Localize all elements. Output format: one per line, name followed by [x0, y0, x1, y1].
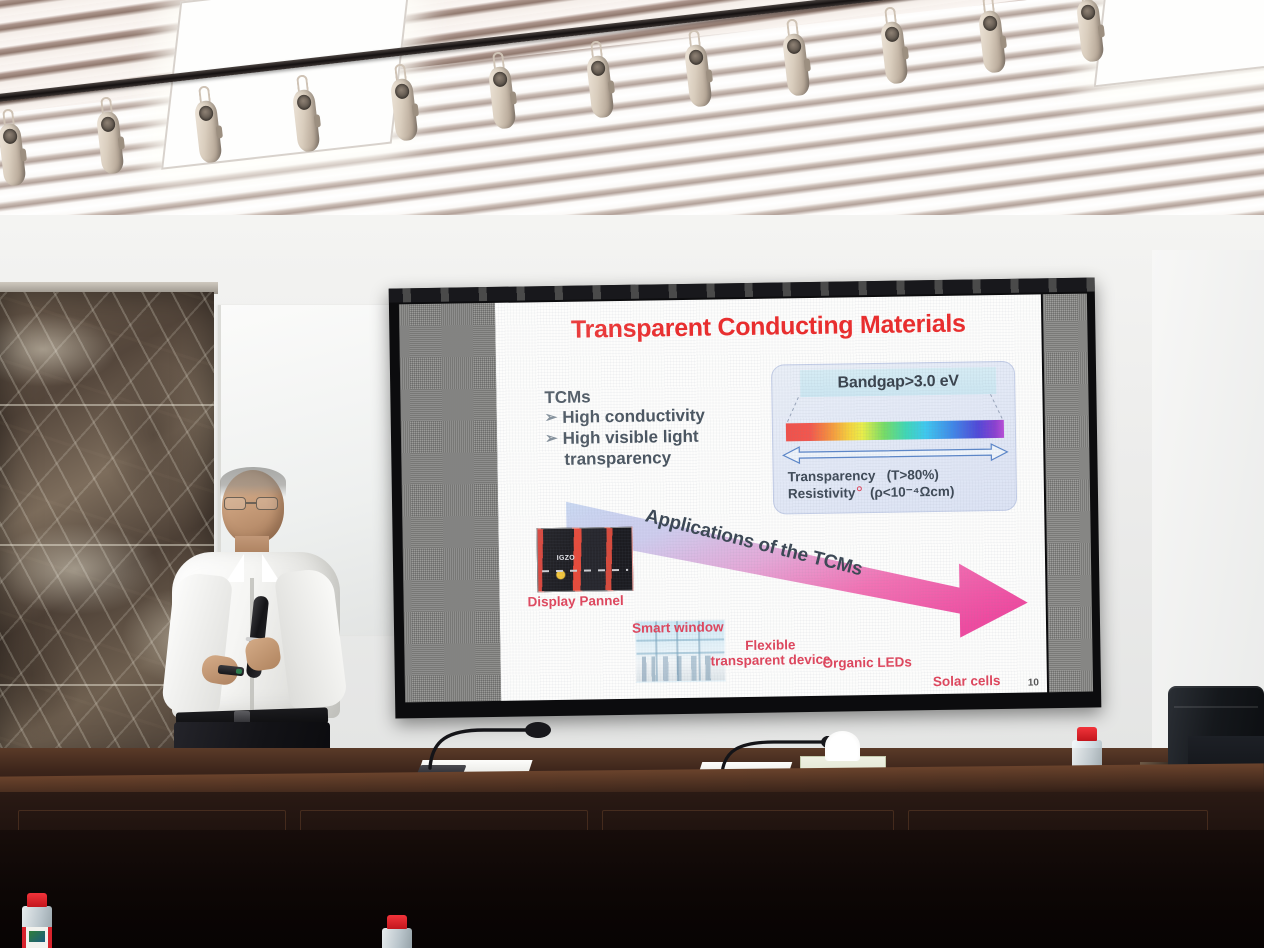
bullet-arrow-icon: ➢: [545, 408, 558, 429]
caption-solar-cells: Solar cells: [933, 673, 1001, 689]
tcm-bullet-label: High conductivity: [562, 406, 705, 429]
bottle-cap: [387, 915, 407, 929]
screen-side-panel-right: [1043, 294, 1093, 693]
igzo-overlay-text: IGZO: [557, 555, 575, 562]
caption-flexible-line2: transparent device: [710, 652, 830, 669]
tcm-bullet-continuation: transparency: [545, 447, 760, 471]
slide-content: Transparent Conducting Materials TCMs ➢ …: [495, 294, 1047, 701]
road-dashes-icon: [542, 569, 629, 572]
double-arrow-icon: [781, 442, 1009, 466]
visible-spectrum-bar: [786, 420, 1004, 441]
bullet-arrow-icon: ➢: [545, 429, 558, 450]
screen-side-panel-left: [399, 303, 501, 702]
funnel-guides-icon: [786, 394, 1002, 423]
caption-smart-window: Smart window: [632, 619, 724, 635]
tcm-bullet-block: TCMs ➢ High conductivity ➢ High visible …: [544, 385, 760, 471]
caption-display-panel: Display Pannel: [527, 593, 623, 610]
presenter-hair: [220, 467, 286, 497]
foreground-shadow: [0, 830, 1264, 948]
tcm-bullet-label: High visible light: [562, 427, 698, 450]
mic-gooseneck-icon: [422, 722, 562, 770]
presentation-screen: Transparent Conducting Materials TCMs ➢ …: [389, 277, 1102, 718]
red-marker-icon: [856, 487, 861, 492]
foreground-water-bottle: [22, 906, 52, 948]
foreground-water-bottle: [382, 928, 412, 948]
slide-number: 10: [1028, 677, 1039, 688]
transparency-label: Transparency: [788, 468, 876, 484]
thumb-flexible-device: [726, 700, 819, 701]
shirt-collar-left: [226, 554, 244, 582]
caption-flexible-line1: Flexible: [745, 637, 796, 653]
caption-organic-leds: Organic LEDs: [822, 654, 912, 670]
bottle-cap: [1077, 727, 1097, 741]
transparency-value: (T>80%): [887, 467, 939, 483]
eyeglasses-icon: [224, 497, 282, 510]
lecture-hall-scene: Transparent Conducting Materials TCMs ➢ …: [0, 0, 1264, 948]
gooseneck-microphone: [418, 722, 558, 778]
bottle-label: [22, 927, 52, 948]
slide-title: Transparent Conducting Materials: [495, 308, 1041, 346]
thumb-display-panel: IGZO: [536, 527, 633, 593]
bottle-cap: [27, 893, 47, 907]
bandgap-label: Bandgap>3.0 eV: [800, 367, 996, 397]
